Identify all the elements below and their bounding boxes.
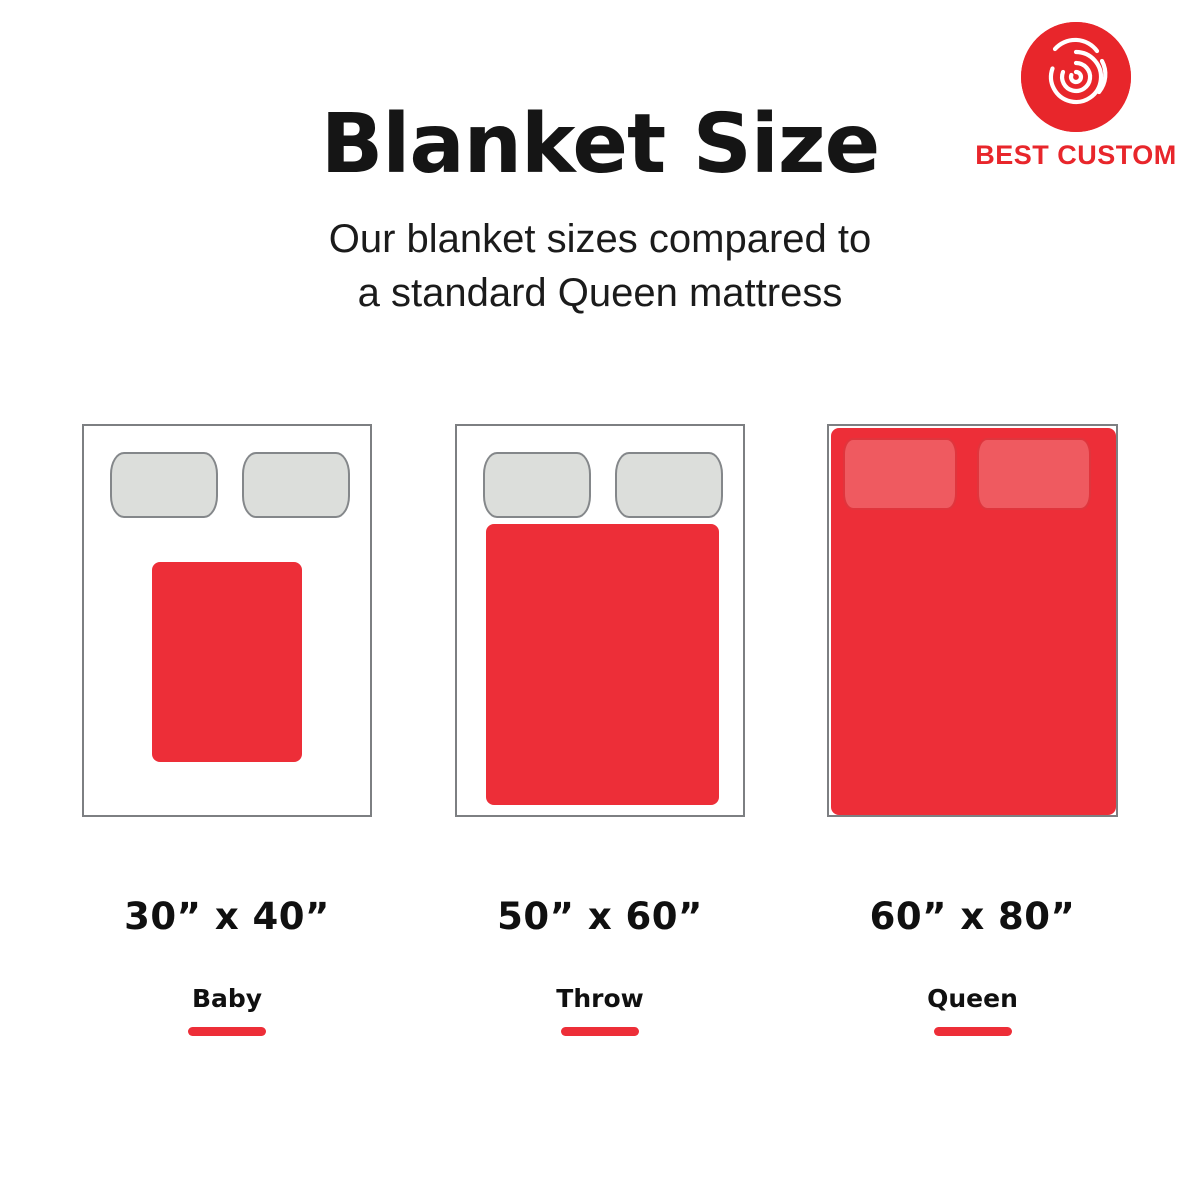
pillow-right bbox=[615, 452, 723, 518]
bed-diagram-throw bbox=[455, 424, 745, 817]
queen-blanket bbox=[831, 428, 1116, 815]
page-title: Blanket Size bbox=[0, 104, 1200, 186]
pillow-left bbox=[110, 452, 218, 518]
size-name-queen: Queen bbox=[827, 984, 1118, 1013]
accent-underline bbox=[934, 1027, 1012, 1036]
mattress-outline-throw bbox=[455, 424, 745, 817]
pillow-right bbox=[977, 438, 1091, 510]
size-name-baby: Baby bbox=[82, 984, 372, 1013]
baby-blanket bbox=[152, 562, 302, 762]
dimensions-label-throw: 50” x 60” bbox=[455, 895, 745, 938]
page-subtitle: Our blanket sizes compared to a standard… bbox=[0, 212, 1200, 320]
subtitle-line-2: a standard Queen mattress bbox=[0, 266, 1200, 320]
heading-block: Blanket Size Our blanket sizes compared … bbox=[0, 104, 1200, 320]
accent-underline bbox=[561, 1027, 639, 1036]
pillow-left bbox=[843, 438, 957, 510]
mattress-outline-queen bbox=[827, 424, 1118, 817]
bed-diagram-queen bbox=[827, 424, 1118, 817]
pillow-left bbox=[483, 452, 591, 518]
mattress-outline-baby bbox=[82, 424, 372, 817]
subtitle-line-1: Our blanket sizes compared to bbox=[0, 212, 1200, 266]
bed-diagrams-row bbox=[0, 424, 1200, 824]
caption-queen: 60” x 80” Queen bbox=[827, 895, 1118, 1036]
caption-baby: 30” x 40” Baby bbox=[82, 895, 372, 1036]
dimensions-label-queen: 60” x 80” bbox=[827, 895, 1118, 938]
accent-underline bbox=[188, 1027, 266, 1036]
dimensions-label-baby: 30” x 40” bbox=[82, 895, 372, 938]
captions-row: 30” x 40” Baby 50” x 60” Throw 60” x 80”… bbox=[0, 895, 1200, 1055]
throw-blanket bbox=[486, 524, 719, 805]
size-name-throw: Throw bbox=[455, 984, 745, 1013]
pillow-right bbox=[242, 452, 350, 518]
bed-diagram-baby bbox=[82, 424, 372, 817]
caption-throw: 50” x 60” Throw bbox=[455, 895, 745, 1036]
